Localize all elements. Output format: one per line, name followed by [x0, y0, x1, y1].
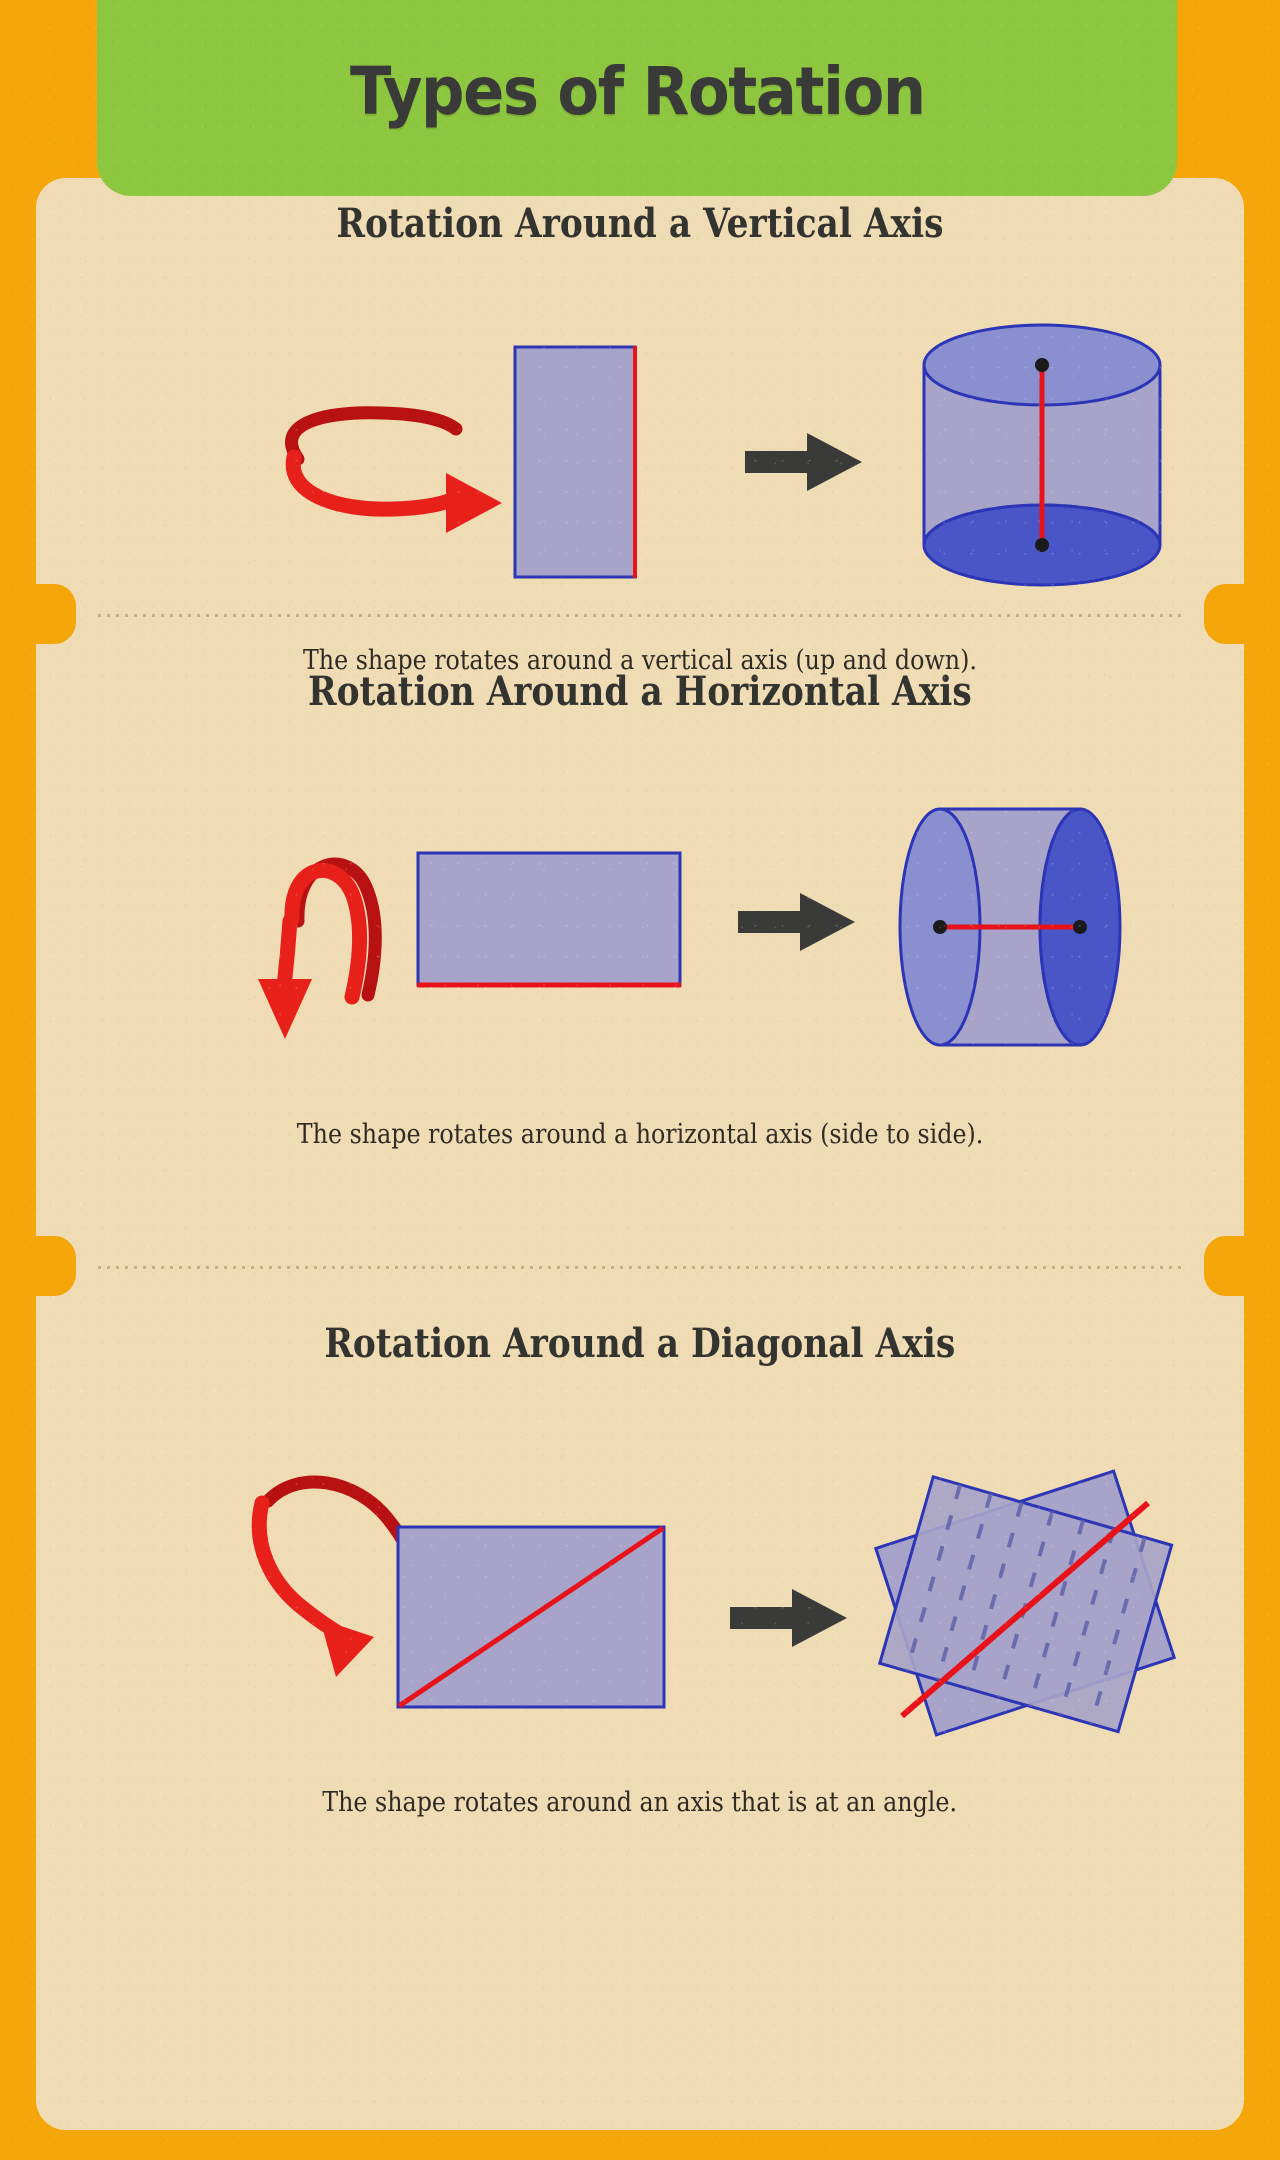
card-divider-1: [98, 614, 1182, 617]
flat-rectangle-shape: [417, 853, 681, 985]
header-banner: Types of Rotation: [97, 0, 1177, 196]
arrow-right-icon: [745, 433, 862, 491]
divider-notch-right-1: [1204, 584, 1244, 644]
cylinder-vertical-shape: [924, 325, 1160, 585]
rotated-rectangles-shape: [876, 1471, 1174, 1735]
divider-notch-right-2: [1204, 1236, 1244, 1296]
arrow-right-icon: [738, 893, 855, 951]
card-horizontal-axis: Rotation Around a Horizontal Axis: [36, 668, 1244, 1150]
content-sheet: Rotation Around a Vertical Axis: [36, 178, 1244, 2130]
flat-rectangle-shape: [515, 346, 635, 578]
cylinder-horizontal-shape: [900, 809, 1120, 1045]
card-title-horizontal: Rotation Around a Horizontal Axis: [308, 668, 972, 715]
page-title: Types of Rotation: [350, 53, 925, 130]
card-diagonal-axis: Rotation Around a Diagonal Axis: [36, 1320, 1244, 1818]
card-divider-2: [98, 1266, 1182, 1269]
card-vertical-axis: Rotation Around a Vertical Axis: [36, 200, 1244, 676]
rotation-arrow-icon: [292, 413, 502, 533]
card-title-vertical: Rotation Around a Vertical Axis: [336, 200, 943, 247]
divider-notch-left-2: [36, 1236, 76, 1296]
arrow-right-icon: [730, 1589, 847, 1647]
divider-notch-left-1: [36, 584, 76, 644]
card-caption-horizontal: The shape rotates around a horizontal ax…: [297, 1119, 984, 1150]
figure-diagonal-axis: [36, 1423, 1244, 1743]
flat-rectangle-shape: [398, 1527, 664, 1707]
figure-horizontal-axis: [36, 771, 1244, 1071]
rotation-arrow-icon: [258, 864, 375, 1039]
card-caption-diagonal: The shape rotates around an axis that is…: [323, 1787, 958, 1818]
figure-vertical-axis: [36, 305, 1244, 605]
rotation-arrow-icon: [259, 1482, 416, 1677]
card-title-diagonal: Rotation Around a Diagonal Axis: [325, 1320, 956, 1367]
